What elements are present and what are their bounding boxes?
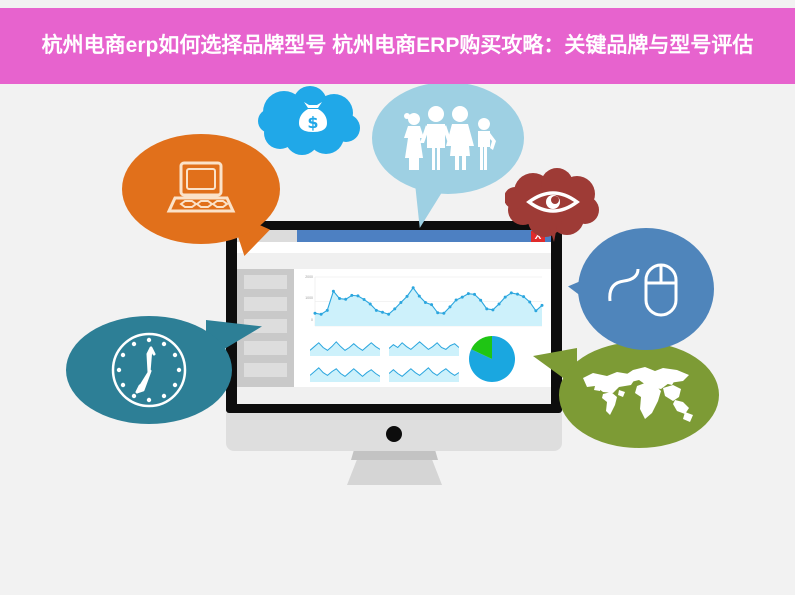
pie-chart-svg (468, 335, 516, 383)
sparkline-grid (310, 337, 460, 383)
clock-icon (66, 316, 232, 424)
y-axis-tick-2000: 2000 (299, 275, 313, 279)
browser-tabbar: X (237, 230, 551, 242)
bubble-money: $ (258, 86, 363, 158)
sidebar-item[interactable] (244, 275, 287, 289)
bubble-clock (66, 316, 266, 426)
svg-text:$: $ (307, 113, 318, 132)
banner: 杭州电商erp如何选择品牌型号 杭州电商ERP购买攻略：关键品牌与型号评估 (0, 8, 795, 84)
sidebar-item[interactable] (244, 297, 287, 311)
sparkline-bottom-right (389, 363, 459, 383)
bubble-people (372, 82, 524, 228)
browser-viewport: 2000 1000 0 (237, 253, 551, 404)
bubble-laptop (122, 134, 280, 252)
world-map-icon (559, 342, 719, 448)
y-axis-tick-1000: 1000 (299, 296, 313, 300)
bubble-world (533, 342, 719, 450)
family-group-icon (372, 82, 524, 194)
monitor-camera-dot (386, 426, 402, 442)
dashboard-content: 2000 1000 0 (294, 269, 551, 387)
pie-chart (468, 335, 516, 383)
laptop-icon (122, 134, 280, 244)
bubble-eye-body (505, 168, 603, 248)
illustration-stage: X 2000 1000 0 (0, 0, 795, 595)
monitor-stand-neck (351, 451, 438, 460)
sparkline-top-right (389, 337, 459, 357)
browser-urlbar[interactable] (237, 242, 551, 253)
main-area-chart-svg (299, 274, 544, 330)
bubble-money-body: $ (258, 86, 363, 158)
sparkline-top-left (310, 337, 380, 357)
sparkline-bottom-left (310, 363, 380, 383)
page-title: 杭州电商erp如何选择品牌型号 杭州电商ERP购买攻略：关键品牌与型号评估 (18, 32, 778, 60)
bubble-eye (505, 168, 603, 248)
main-area-chart: 2000 1000 0 (299, 274, 544, 330)
y-axis-tick-0: 0 (299, 318, 313, 322)
monitor-screen: X 2000 1000 0 (237, 230, 551, 404)
